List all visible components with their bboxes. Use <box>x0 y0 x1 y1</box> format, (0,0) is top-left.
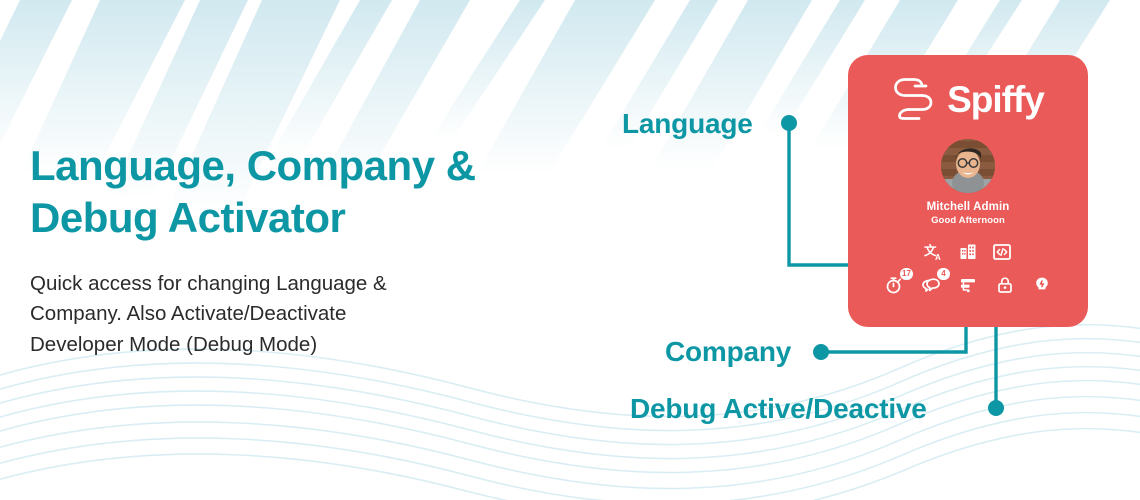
debug-code-icon[interactable] <box>992 242 1012 262</box>
primary-action-icon-row: 文 A <box>848 242 1088 262</box>
padlock-glyph <box>995 275 1015 295</box>
callout-label-debug: Debug Active/Deactive <box>630 393 927 425</box>
spiffy-paperclip-s-logo-icon <box>892 77 938 121</box>
brand-name: Spiffy <box>947 81 1044 118</box>
messages-badge: 4 <box>937 268 950 280</box>
avatar[interactable] <box>941 139 995 193</box>
page-description: Quick access for changing Language & Com… <box>30 269 530 359</box>
secondary-action-icon-row: 17 4 <box>848 275 1088 295</box>
callout-label-language: Language <box>622 108 753 140</box>
intro-text-block: Language, Company & Debug Activator Quic… <box>30 140 530 360</box>
user-summary: Mitchell Admin Good Afternoon <box>848 139 1088 226</box>
translate-glyph: 文 A <box>924 242 944 262</box>
tips-lightbulb-icon[interactable] <box>1032 275 1052 295</box>
translate-language-icon[interactable]: 文 A <box>924 242 944 262</box>
connector-dot-language <box>781 115 797 131</box>
code-brackets-glyph <box>992 242 1012 262</box>
svg-text:A: A <box>935 253 941 262</box>
lock-icon[interactable] <box>995 275 1015 295</box>
user-avatar-photo-icon <box>941 139 995 193</box>
messages-chat-icon[interactable]: 4 <box>921 275 941 295</box>
tasks-board-icon[interactable] <box>958 275 978 295</box>
activities-badge: 17 <box>900 268 913 280</box>
user-greeting: Good Afternoon <box>848 215 1088 226</box>
callout-label-company: Company <box>665 336 791 368</box>
connector-dot-debug <box>988 400 1004 416</box>
spiffy-user-menu-card: Spiffy <box>848 55 1088 327</box>
company-building-icon[interactable] <box>958 242 978 262</box>
page-title: Language, Company & Debug Activator <box>30 140 530 243</box>
lightbulb-glyph <box>1032 275 1052 295</box>
building-glyph <box>958 242 978 262</box>
brand-lockup: Spiffy <box>848 73 1088 125</box>
user-name: Mitchell Admin <box>848 201 1088 213</box>
activities-clock-icon[interactable]: 17 <box>884 275 904 295</box>
connector-dot-company <box>813 344 829 360</box>
task-board-glyph <box>958 275 978 295</box>
